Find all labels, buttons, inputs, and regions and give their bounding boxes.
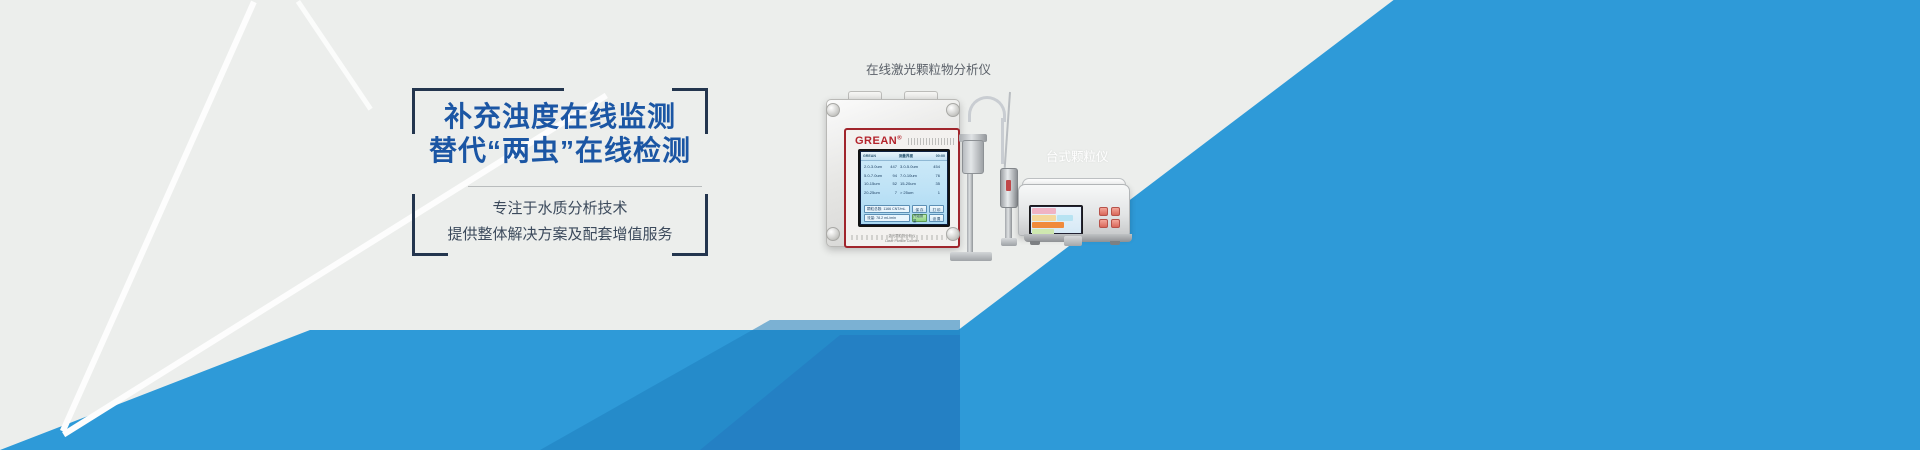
desktop-counter-screen[interactable] xyxy=(1029,205,1083,235)
row-range-right: > 25um xyxy=(900,189,924,198)
frame-corner-top-right-h xyxy=(672,88,708,91)
row-value-left: 94 xyxy=(886,172,900,181)
keypad-button[interactable] xyxy=(1099,207,1108,216)
online-laser-particle-analyzer: GREAN® GREAN 测量界面 00:00 2.0-3.0um 447 xyxy=(818,85,968,260)
row-value-right: 454 xyxy=(924,163,940,172)
lcd-title-right: 00:00 xyxy=(936,154,945,158)
frame-corner-bottom-right-h xyxy=(672,253,708,256)
sensor-stand-post xyxy=(967,174,973,258)
desktop-counter-foot-right xyxy=(1110,241,1120,245)
table-row: 20-25um 7 > 25um 1 xyxy=(864,189,944,198)
probe-nut xyxy=(1001,238,1017,246)
headline-line-2: 替代“两虫”在线检测 xyxy=(412,134,708,168)
lcd-start-button[interactable]: 开始测量 xyxy=(912,214,927,222)
lcd-inner: GREAN 测量界面 00:00 2.0-3.0um 447 3.0-5.0um… xyxy=(861,152,947,224)
row-range-right: 3.0-5.0um xyxy=(900,163,924,172)
probe-indicator xyxy=(1006,180,1011,191)
headline-block: 补充浊度在线监测 替代“两虫”在线检测 专注于水质分析技术 提供整体解决方案及配… xyxy=(412,88,708,256)
background-blue-bottom-band xyxy=(0,330,1920,450)
row-range-right: 7.0-10um xyxy=(900,172,924,181)
sensor-housing xyxy=(962,140,984,174)
frame-corner-bottom-left-h xyxy=(412,253,448,256)
keypad-button[interactable] xyxy=(1111,219,1120,228)
lcd-flow-field: 流量: 78.2 mL/min xyxy=(864,214,910,222)
row-range-left: 2.0-3.0um xyxy=(864,163,886,172)
analyzer-brand-mark: ® xyxy=(897,135,902,141)
headline: 补充浊度在线监测 替代“两虫”在线检测 xyxy=(412,100,708,168)
lcd-title-left: GREAN xyxy=(863,154,876,158)
analyzer-lcd-screen[interactable]: GREAN 测量界面 00:00 2.0-3.0um 447 3.0-5.0um… xyxy=(858,149,950,227)
row-value-right: 35 xyxy=(924,180,940,189)
product-label-online-analyzer: 在线激光颗粒物分析仪 xyxy=(866,59,991,78)
table-row: 2.0-3.0um 447 3.0-5.0um 454 xyxy=(864,163,944,172)
lcd-title-center: 测量界面 xyxy=(899,154,913,159)
desktop-counter-screen-inner xyxy=(1031,207,1081,233)
row-value-left: 52 xyxy=(886,180,900,189)
frame-corner-top-left-h xyxy=(412,88,564,91)
promo-banner: 补充浊度在线监测 替代“两虫”在线检测 专注于水质分析技术 提供整体解决方案及配… xyxy=(0,0,1920,450)
screen-cell xyxy=(1057,215,1073,221)
row-range-left: 10-15um xyxy=(864,180,886,189)
row-range-left: 20-25um xyxy=(864,189,886,198)
row-range-right: 15-20um xyxy=(900,180,924,189)
desktop-counter-inlet xyxy=(1064,236,1082,246)
screen-cell xyxy=(1032,222,1064,228)
lcd-total-field: 颗粒总数: 1166 CNT/mL xyxy=(864,205,910,213)
product-label-desktop-counter: 台式颗粒仪 xyxy=(1046,146,1109,165)
lcd-row-total: 颗粒总数: 1166 CNT/mL 保 存 打 印 xyxy=(864,205,944,213)
analyzer-front-panel: GREAN® GREAN 测量界面 00:00 2.0-3.0um 447 xyxy=(844,128,960,248)
desktop-counter-foot-left xyxy=(1030,241,1040,245)
keypad-button[interactable] xyxy=(1099,219,1108,228)
analyzer-latch-knob-top-right xyxy=(946,103,960,117)
row-value-left: 447 xyxy=(886,163,900,172)
lcd-title-bar: GREAN 测量界面 00:00 xyxy=(861,152,947,161)
lcd-print-button[interactable]: 打 印 xyxy=(929,205,944,213)
headline-divider xyxy=(468,186,702,187)
analyzer-latch-knob-bottom-left xyxy=(826,227,840,241)
row-value-left: 7 xyxy=(886,189,900,198)
analyzer-latch-knob-top-left xyxy=(826,103,840,117)
lcd-settings-button[interactable]: 设 置 xyxy=(929,214,944,222)
screen-cell xyxy=(1032,208,1056,214)
desktop-counter-body xyxy=(1018,184,1130,236)
analyzer-vent-slots xyxy=(851,235,947,240)
analyzer-panel-hatching xyxy=(908,138,954,145)
analyzer-brand-text: GREAN xyxy=(855,135,897,147)
lcd-save-button[interactable]: 保 存 xyxy=(912,205,927,213)
sensor-stand-foot xyxy=(950,252,992,261)
table-row: 10-15um 52 15-20um 35 xyxy=(864,180,944,189)
lcd-measurement-table: 2.0-3.0um 447 3.0-5.0um 454 5.0-7.0um 94… xyxy=(861,161,947,203)
lcd-row-flow: 流量: 78.2 mL/min 开始测量 设 置 xyxy=(864,214,944,222)
analyzer-brand-logo: GREAN® xyxy=(855,135,902,147)
lcd-control-area: 颗粒总数: 1166 CNT/mL 保 存 打 印 流量: 78.2 mL/mi… xyxy=(861,203,947,224)
subtitle-line-1: 专注于水质分析技术 xyxy=(412,196,708,222)
row-value-right: 1 xyxy=(924,189,940,198)
screen-cell xyxy=(1032,215,1056,221)
analyzer-enclosure: GREAN® GREAN 测量界面 00:00 2.0-3.0um 447 xyxy=(826,99,960,247)
row-range-left: 5.0-7.0um xyxy=(864,172,886,181)
row-value-right: 76 xyxy=(924,172,940,181)
analyzer-latch-knob-bottom-right xyxy=(946,227,960,241)
table-row: 5.0-7.0um 94 7.0-10um 76 xyxy=(864,172,944,181)
desktop-particle-counter xyxy=(1018,178,1138,250)
keypad-button[interactable] xyxy=(1111,207,1120,216)
desktop-counter-keypad[interactable] xyxy=(1099,207,1120,228)
subtitle-line-2: 提供整体解决方案及配套增值服务 xyxy=(412,222,708,248)
headline-line-1: 补充浊度在线监测 xyxy=(412,100,708,134)
